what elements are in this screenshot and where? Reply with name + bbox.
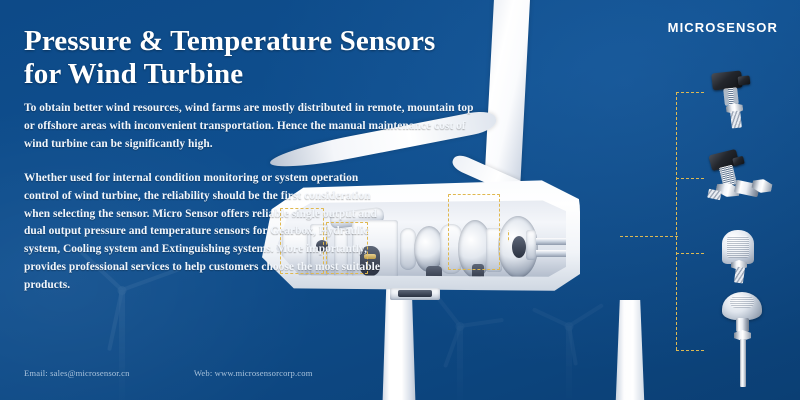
page-title-line-1: Pressure & Temperature Sensors (24, 25, 524, 58)
callout-bracket (676, 92, 677, 350)
callout-branch-2 (676, 178, 704, 179)
callout-branch-3 (676, 253, 704, 254)
callout-branch-1 (676, 92, 704, 93)
footer-contact: Email: sales@microsensor.cn Web: www.mic… (24, 368, 504, 378)
footer-website[interactable]: Web: www.microsensorcorp.com (194, 368, 313, 378)
body-paragraph-1: To obtain better wind resources, wind fa… (24, 100, 476, 153)
callout-line-shaft (508, 230, 570, 242)
product-pressure-sensor-flush-diaphragm[interactable] (714, 230, 778, 286)
poster-canvas: Pressure & Temperature Sensors for Wind … (0, 0, 800, 400)
product-pressure-sensor-compact[interactable] (706, 70, 780, 132)
product-pressure-sensor-dual-output[interactable] (702, 150, 788, 216)
page-title: Pressure & Temperature Sensors for Wind … (24, 25, 524, 91)
callout-branch-4 (676, 350, 704, 351)
brand-logo: MICROSENSOR (668, 20, 778, 35)
callout-box-gearbox (448, 194, 500, 270)
body-paragraph-2: Whether used for internal condition moni… (24, 170, 384, 294)
callout-connector-main (620, 236, 678, 237)
product-temperature-sensor-probe[interactable] (712, 292, 782, 392)
footer-email[interactable]: Email: sales@microsensor.cn (24, 368, 130, 378)
page-title-line-2: for Wind Turbine (24, 58, 524, 91)
turbine-tower-secondary (615, 300, 645, 400)
